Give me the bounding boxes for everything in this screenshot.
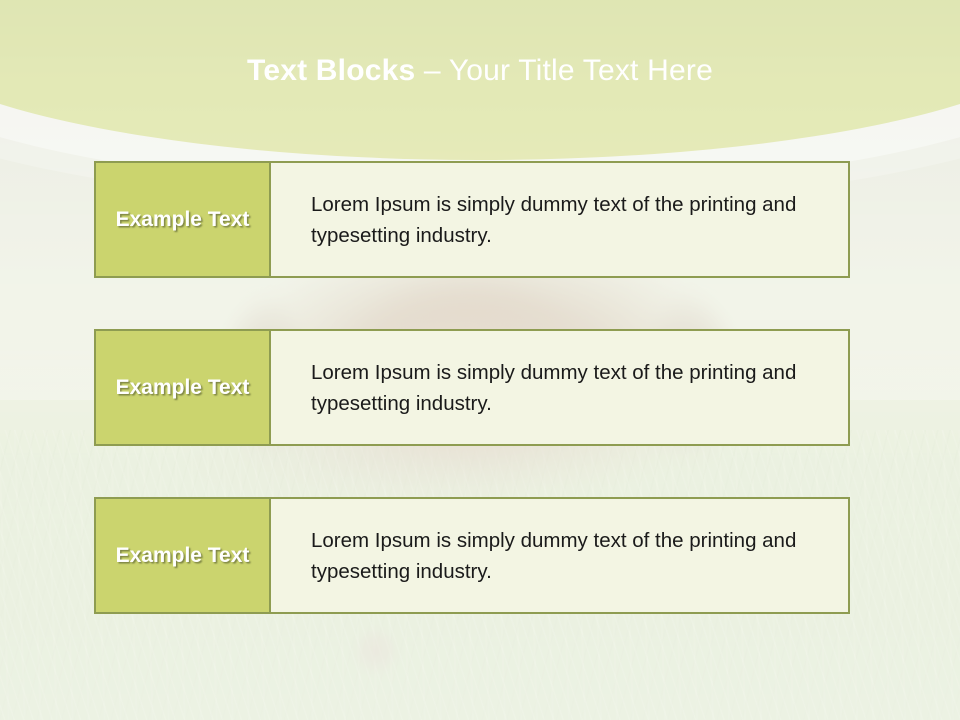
slide-canvas: Text Blocks – Your Title Text Here Examp… xyxy=(0,0,960,720)
text-block-3[interactable]: Example Text Lorem Ipsum is simply dummy… xyxy=(94,497,850,614)
text-block-2-label: Example Text xyxy=(96,331,271,444)
text-block-3-body: Lorem Ipsum is simply dummy text of the … xyxy=(271,499,848,612)
text-block-1-body-text: Lorem Ipsum is simply dummy text of the … xyxy=(311,189,826,251)
text-blocks-list: Example Text Lorem Ipsum is simply dummy… xyxy=(94,161,850,614)
text-block-3-body-text: Lorem Ipsum is simply dummy text of the … xyxy=(311,525,826,587)
page-title-light: Your Title Text Here xyxy=(449,54,713,87)
text-block-2-body: Lorem Ipsum is simply dummy text of the … xyxy=(271,331,848,444)
text-block-1-body: Lorem Ipsum is simply dummy text of the … xyxy=(271,163,848,276)
text-block-2-body-text: Lorem Ipsum is simply dummy text of the … xyxy=(311,357,826,419)
page-title: Text Blocks – Your Title Text Here xyxy=(0,52,960,90)
text-block-2[interactable]: Example Text Lorem Ipsum is simply dummy… xyxy=(94,329,850,446)
text-block-1[interactable]: Example Text Lorem Ipsum is simply dummy… xyxy=(94,161,850,278)
page-title-strong: Text Blocks xyxy=(247,54,415,87)
page-title-separator: – xyxy=(415,54,448,87)
text-block-3-label: Example Text xyxy=(96,499,271,612)
text-block-1-label: Example Text xyxy=(96,163,271,276)
